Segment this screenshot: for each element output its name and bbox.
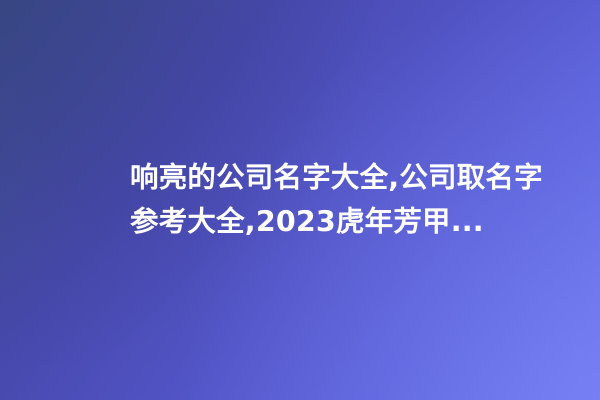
page-title-line-1: 响亮的公司名字大全,公司取名字 bbox=[130, 156, 470, 200]
page-title-line-2: 参考大全,2023虎年芳甲... bbox=[130, 200, 470, 244]
page-title: 响亮的公司名字大全,公司取名字 参考大全,2023虎年芳甲... bbox=[130, 156, 470, 244]
title-card: 响亮的公司名字大全,公司取名字 参考大全,2023虎年芳甲... bbox=[0, 0, 600, 400]
